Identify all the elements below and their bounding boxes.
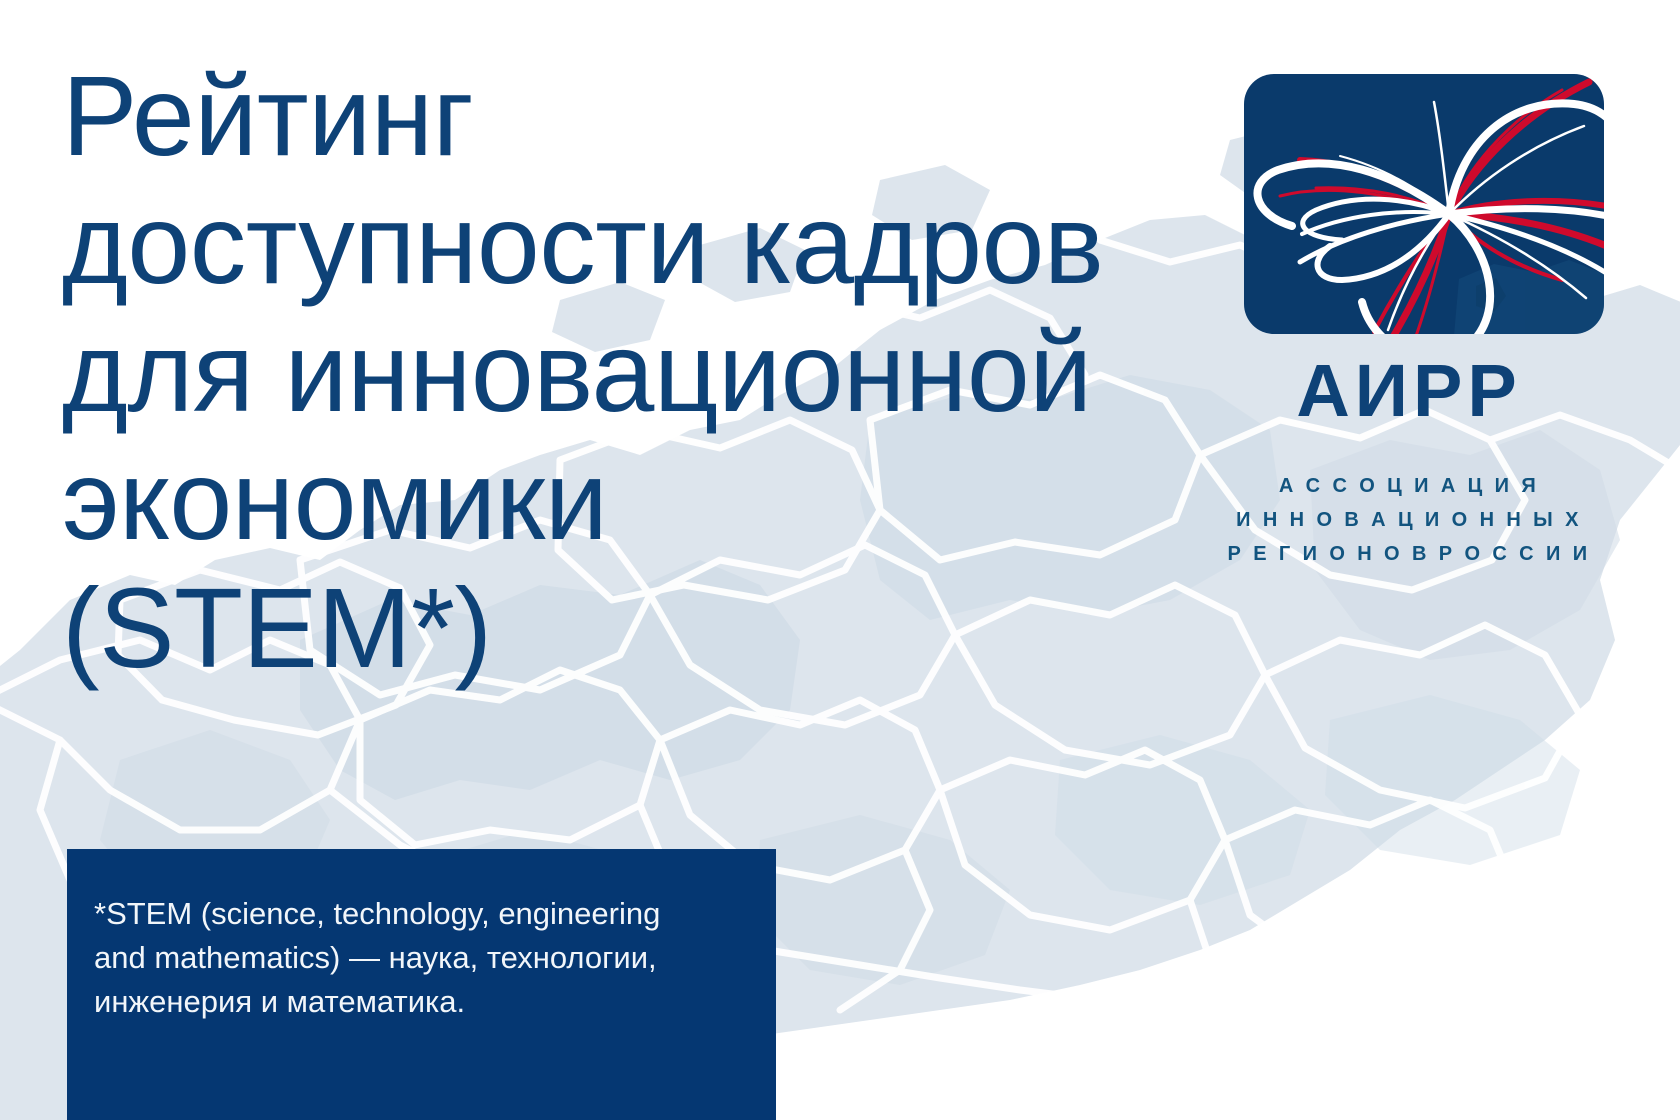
airr-swirl-logo-icon xyxy=(1244,74,1604,334)
title-line-1: Рейтинг xyxy=(62,52,1222,180)
logo-wordmark: АИРР xyxy=(1210,354,1608,428)
title-line-3: для инновационной xyxy=(62,308,1222,436)
logo-tagline-line-1: А С С О Ц И А Ц И Я xyxy=(1210,469,1608,503)
slide-title: Рейтинг доступности кадров для инновацио… xyxy=(62,52,1222,692)
footnote-line-2: and mathematics) — наука, технологии, xyxy=(94,936,744,980)
title-line-4: экономики xyxy=(62,436,1222,564)
stem-footnote-box: *STEM (science, technology, engineering … xyxy=(67,849,776,1120)
footnote-line-3: инженерия и математика. xyxy=(94,980,744,1024)
stem-footnote-text: *STEM (science, technology, engineering … xyxy=(94,892,744,1024)
cover-slide: Рейтинг доступности кадров для инновацио… xyxy=(0,0,1680,1120)
title-line-5: (STEM*) xyxy=(62,564,1222,692)
logo-tagline-line-2: И Н Н О В А Ц И О Н Н Ы Х xyxy=(1210,503,1608,537)
logo-tagline: А С С О Ц И А Ц И Я И Н Н О В А Ц И О Н … xyxy=(1210,469,1608,571)
footnote-line-1: *STEM (science, technology, engineering xyxy=(94,892,744,936)
title-line-2: доступности кадров xyxy=(62,180,1222,308)
logo-tagline-line-3: Р Е Г И О Н О В Р О С С И И xyxy=(1210,537,1608,571)
airr-logo: АИРР А С С О Ц И А Ц И Я И Н Н О В А Ц И… xyxy=(1210,54,1640,594)
